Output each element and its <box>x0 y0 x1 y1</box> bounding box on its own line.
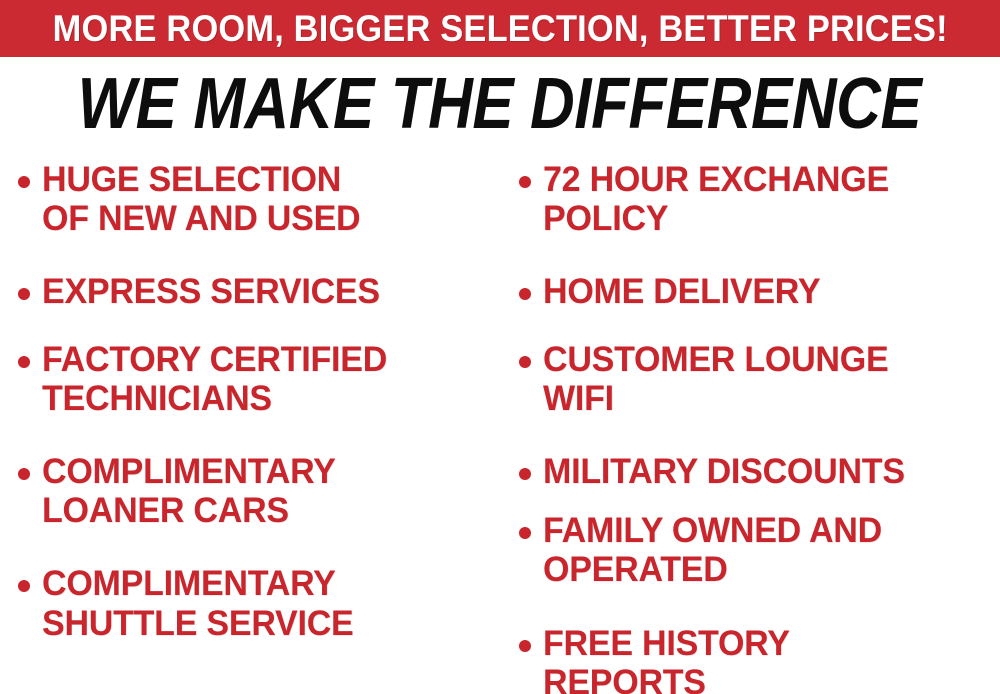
list-item: 72 HOUR EXCHANGE POLICY <box>519 160 1000 238</box>
banner-headline: MORE ROOM, BIGGER SELECTION, BETTER PRIC… <box>52 10 947 47</box>
list-item-label: FREE HISTORY REPORTS <box>543 624 790 694</box>
list-item: MILITARY DISCOUNTS <box>519 452 1000 491</box>
list-item-label: FACTORY CERTIFIED TECHNICIANS <box>42 340 387 418</box>
bullet-dot-icon <box>519 640 531 652</box>
list-item: FACTORY CERTIFIED TECHNICIANS <box>18 340 505 418</box>
list-item: EXPRESS SERVICES <box>18 272 505 311</box>
bullet-dot-icon <box>18 176 30 188</box>
list-item: COMPLIMENTARY LOANER CARS <box>18 452 505 530</box>
benefits-columns: HUGE SELECTION OF NEW AND USED EXPRESS S… <box>0 160 1000 694</box>
list-item: FAMILY OWNED AND OPERATED <box>519 511 1000 589</box>
list-item-label: EXPRESS SERVICES <box>42 272 380 311</box>
bullet-dot-icon <box>519 468 531 480</box>
benefits-column-left: HUGE SELECTION OF NEW AND USED EXPRESS S… <box>0 160 505 694</box>
list-item-label: HUGE SELECTION OF NEW AND USED <box>42 160 360 238</box>
bullet-dot-icon <box>519 176 531 188</box>
list-item-label: HOME DELIVERY <box>543 272 820 311</box>
list-item-label: CUSTOMER LOUNGE WIFI <box>543 340 888 418</box>
benefits-column-right: 72 HOUR EXCHANGE POLICY HOME DELIVERY CU… <box>505 160 1000 694</box>
list-item-label: COMPLIMENTARY LOANER CARS <box>42 452 336 530</box>
list-item-label: COMPLIMENTARY SHUTTLE SERVICE <box>42 564 354 642</box>
list-item: FREE HISTORY REPORTS <box>519 624 1000 694</box>
headline-container: WE MAKE THE DIFFERENCE <box>0 64 1000 144</box>
bullet-dot-icon <box>519 288 531 300</box>
bullet-dot-icon <box>18 468 30 480</box>
list-item: HUGE SELECTION OF NEW AND USED <box>18 160 505 238</box>
bullet-dot-icon <box>18 580 30 592</box>
list-item-label: MILITARY DISCOUNTS <box>543 452 905 491</box>
list-item: HOME DELIVERY <box>519 272 1000 311</box>
bullet-dot-icon <box>18 288 30 300</box>
list-item: CUSTOMER LOUNGE WIFI <box>519 340 1000 418</box>
list-item: COMPLIMENTARY SHUTTLE SERVICE <box>18 564 505 642</box>
list-item-label: FAMILY OWNED AND OPERATED <box>543 511 882 589</box>
promotional-poster: MORE ROOM, BIGGER SELECTION, BETTER PRIC… <box>0 0 1000 694</box>
bullet-dot-icon <box>519 356 531 368</box>
top-banner: MORE ROOM, BIGGER SELECTION, BETTER PRIC… <box>0 0 1000 57</box>
bullet-dot-icon <box>519 527 531 539</box>
bullet-dot-icon <box>18 356 30 368</box>
list-item-label: 72 HOUR EXCHANGE POLICY <box>543 160 889 238</box>
page-title: WE MAKE THE DIFFERENCE <box>78 68 922 140</box>
